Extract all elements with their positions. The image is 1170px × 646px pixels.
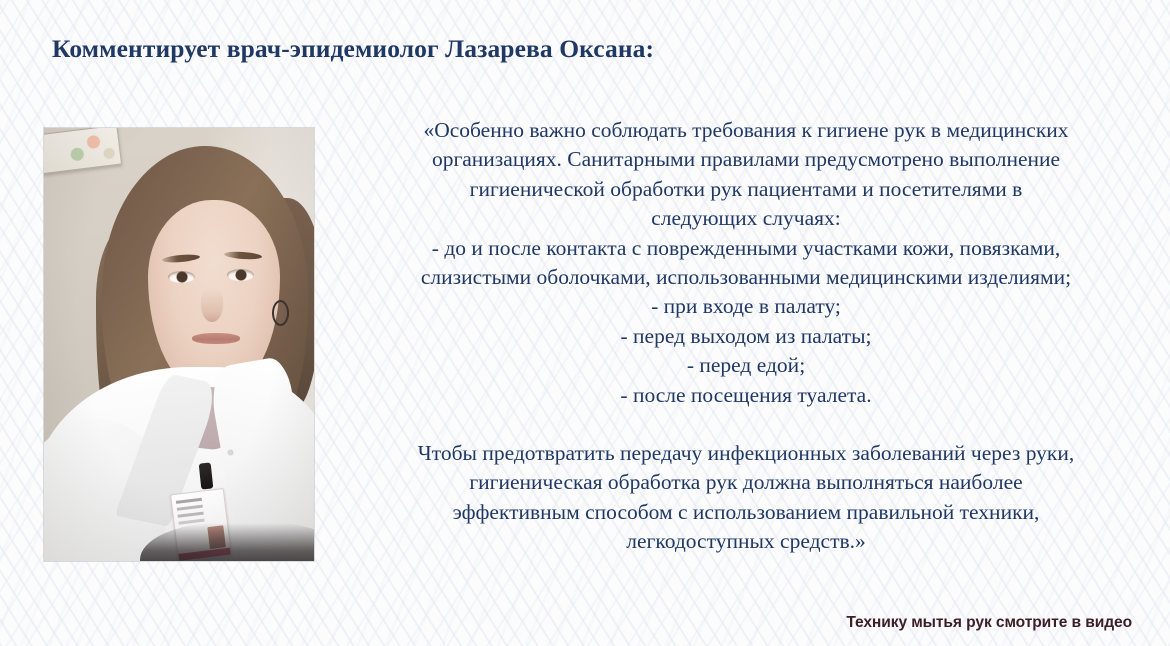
slide-title: Комментирует врач-эпидемиолог Лазарева О… xyxy=(52,34,1092,64)
wall-picture-frame xyxy=(44,128,122,175)
footer-note: Технику мытья рук смотрите в видео xyxy=(846,614,1132,632)
paragraph2-line-3: эффективным способом с использованием пр… xyxy=(330,498,1162,527)
eye-left xyxy=(168,271,195,283)
paragraph-spacer xyxy=(330,410,1162,439)
paragraph1-line-4: следующих случаях: xyxy=(330,204,1162,233)
doctor-photo xyxy=(44,128,314,561)
list-item-2: - при входе в палату; xyxy=(330,292,1162,321)
photo-background-wall xyxy=(44,128,314,561)
paragraph1-line-2: организациях. Санитарными правилами пред… xyxy=(330,145,1162,174)
list-item-1-line-1: - до и после контакта с поврежденными уч… xyxy=(330,234,1162,263)
paragraph1-line-1: «Особенно важно соблюдать требования к г… xyxy=(330,116,1162,145)
paragraph2-line-4: легкодоступных средств.» xyxy=(330,527,1162,556)
earring xyxy=(272,300,289,326)
eye-right xyxy=(227,269,254,281)
coat-button xyxy=(228,450,233,455)
list-item-5: - после посещения туалета. xyxy=(330,381,1162,410)
paragraph1-line-3: гигиенической обработки рук пациентами и… xyxy=(330,175,1162,204)
list-item-4: - перед едой; xyxy=(330,351,1162,380)
mouth xyxy=(192,333,240,344)
nose xyxy=(201,288,223,322)
badge-clip xyxy=(199,462,214,489)
list-item-1-line-2: слизистыми оболочками, использованными м… xyxy=(330,263,1162,292)
paragraph2-line-2: гигиеническая обработка рук должна выпол… xyxy=(330,468,1162,497)
paragraph2-line-1: Чтобы предотвратить передачу инфекционны… xyxy=(330,439,1162,468)
list-item-3: - перед выходом из палаты; xyxy=(330,322,1162,351)
presentation-slide: Комментирует врач-эпидемиолог Лазарева О… xyxy=(0,0,1170,646)
quote-body: «Особенно важно соблюдать требования к г… xyxy=(330,116,1162,557)
